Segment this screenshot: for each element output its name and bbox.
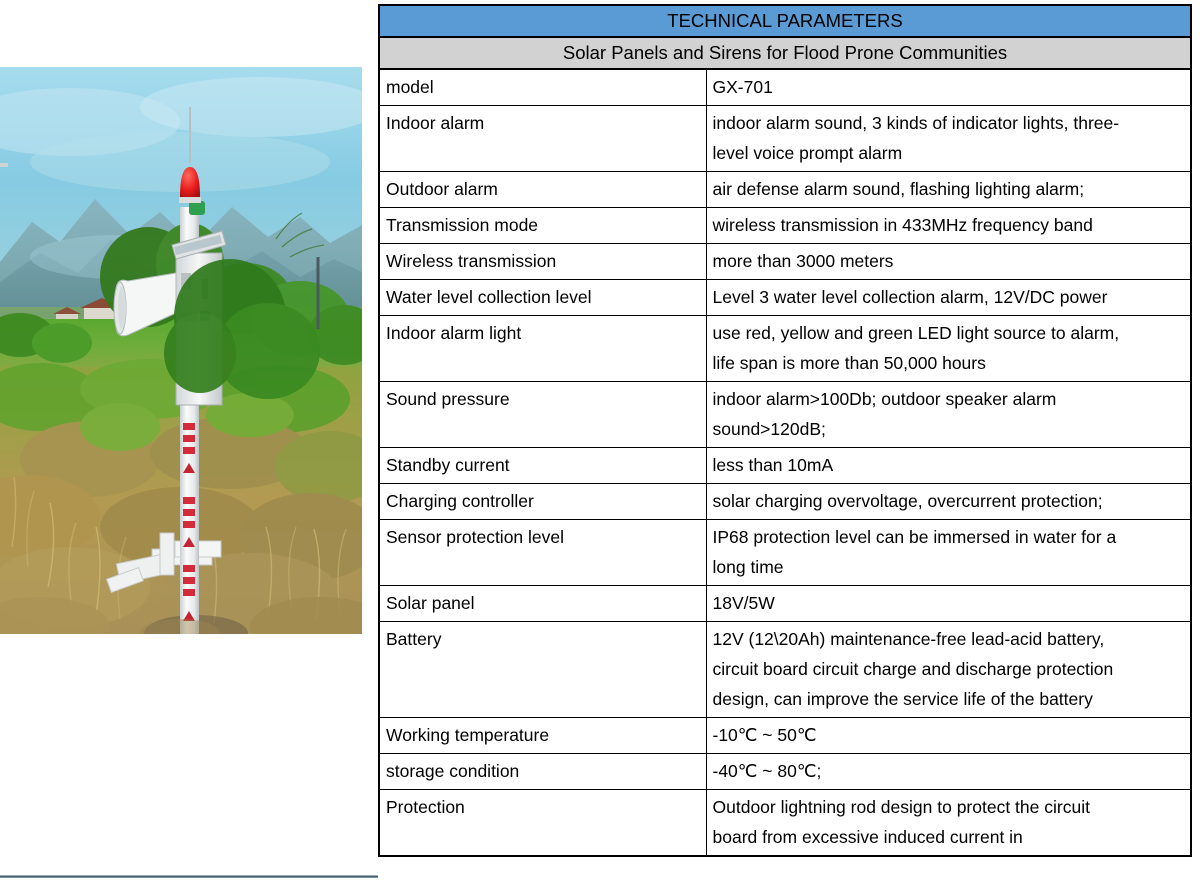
spec-label-cell: Working temperature: [379, 718, 706, 754]
spec-value-cell: indoor alarm>100Db; outdoor speaker alar…: [706, 382, 1191, 448]
table-row: Battery12V (12\20Ah) maintenance-free le…: [379, 622, 1191, 718]
spec-label-cell: Indoor alarm: [379, 106, 706, 172]
spec-value-line: Outdoor lightning rod design to protect …: [713, 792, 1185, 822]
spec-value-cell: IP68 protection level can be immersed in…: [706, 520, 1191, 586]
spec-label-cell: Protection: [379, 790, 706, 857]
table-row: Outdoor alarmair defense alarm sound, fl…: [379, 172, 1191, 208]
spec-label-cell: Sound pressure: [379, 382, 706, 448]
table-body: modelGX-701Indoor alarmindoor alarm soun…: [379, 69, 1191, 856]
spec-value-cell: 12V (12\20Ah) maintenance-free lead-acid…: [706, 622, 1191, 718]
spec-value-line: design, can improve the service life of …: [713, 684, 1185, 714]
table-subtitle-row: Solar Panels and Sirens for Flood Prone …: [379, 37, 1191, 69]
spec-value-line: solar charging overvoltage, overcurrent …: [713, 486, 1185, 516]
table-row: Working temperature -10℃ ~ 50℃: [379, 718, 1191, 754]
table-subtitle: Solar Panels and Sirens for Flood Prone …: [379, 37, 1191, 69]
spec-label-cell: Charging controller: [379, 484, 706, 520]
table-row: Sensor protection levelIP68 protection l…: [379, 520, 1191, 586]
spec-value-line: IP68 protection level can be immersed in…: [713, 522, 1185, 552]
spec-value-line: wireless transmission in 433MHz frequenc…: [713, 210, 1185, 240]
table-row: Water level collection levelLevel 3 wate…: [379, 280, 1191, 316]
spec-label-cell: Battery: [379, 622, 706, 718]
table-row: Solar panel18V/5W: [379, 586, 1191, 622]
spec-value-line: circuit board circuit charge and dischar…: [713, 654, 1185, 684]
spec-value-cell: wireless transmission in 433MHz frequenc…: [706, 208, 1191, 244]
water-level-scale-markings: [183, 423, 195, 621]
technical-parameters-panel: TECHNICAL PARAMETERS Solar Panels and Si…: [378, 4, 1190, 857]
table-row: Standby currentless than 10mA: [379, 448, 1191, 484]
table-row: Indoor alarmindoor alarm sound, 3 kinds …: [379, 106, 1191, 172]
table-row: storage condition-40℃ ~ 80℃;: [379, 754, 1191, 790]
spec-value-cell: -10℃ ~ 50℃: [706, 718, 1191, 754]
spec-label-cell: Indoor alarm light: [379, 316, 706, 382]
table-row: Charging controllersolar charging overvo…: [379, 484, 1191, 520]
spec-value-line: less than 10mA: [713, 450, 1185, 480]
spec-value-line: 12V (12\20Ah) maintenance-free lead-acid…: [713, 624, 1185, 654]
spec-label-cell: Solar panel: [379, 586, 706, 622]
footer-divider: [0, 875, 378, 878]
spec-value-cell: more than 3000 meters: [706, 244, 1191, 280]
spec-value-cell: indoor alarm sound, 3 kinds of indicator…: [706, 106, 1191, 172]
spec-value-line: level voice prompt alarm: [713, 138, 1185, 168]
spec-value-line: use red, yellow and green LED light sour…: [713, 318, 1185, 348]
table-row: Sound pressureindoor alarm>100Db; outdoo…: [379, 382, 1191, 448]
table-title-row: TECHNICAL PARAMETERS: [379, 5, 1191, 37]
spec-value-line: life span is more than 50,000 hours: [713, 348, 1185, 378]
table-title: TECHNICAL PARAMETERS: [379, 5, 1191, 37]
table-row: modelGX-701: [379, 69, 1191, 106]
spec-value-cell: use red, yellow and green LED light sour…: [706, 316, 1191, 382]
spec-value-line: 18V/5W: [713, 588, 1185, 618]
spec-value-line: GX-701: [713, 72, 1185, 102]
spec-value-line: -40℃ ~ 80℃;: [713, 756, 1185, 786]
spec-value-cell: solar charging overvoltage, overcurrent …: [706, 484, 1191, 520]
spec-value-line: board from excessive induced current in: [713, 822, 1185, 852]
spec-value-cell: air defense alarm sound, flashing lighti…: [706, 172, 1191, 208]
spec-label-cell: Wireless transmission: [379, 244, 706, 280]
green-indicator-light: [189, 201, 205, 215]
table-row: ProtectionOutdoor lightning rod design t…: [379, 790, 1191, 857]
spec-label-cell: Water level collection level: [379, 280, 706, 316]
spec-value-line: sound>120dB;: [713, 414, 1185, 444]
spec-label-cell: Transmission mode: [379, 208, 706, 244]
spec-value-line: indoor alarm sound, 3 kinds of indicator…: [713, 108, 1185, 138]
product-photo: [0, 67, 362, 634]
spec-value-line: Level 3 water level collection alarm, 12…: [713, 282, 1185, 312]
spec-label-cell: Outdoor alarm: [379, 172, 706, 208]
spec-value-line: more than 3000 meters: [713, 246, 1185, 276]
table-row: Indoor alarm lightuse red, yellow and gr…: [379, 316, 1191, 382]
spec-value-line: -10℃ ~ 50℃: [713, 720, 1185, 750]
spec-value-cell: Level 3 water level collection alarm, 12…: [706, 280, 1191, 316]
spec-label-cell: Standby current: [379, 448, 706, 484]
spec-value-cell: 18V/5W: [706, 586, 1191, 622]
spec-value-cell: Outdoor lightning rod design to protect …: [706, 790, 1191, 857]
spec-label-cell: storage condition: [379, 754, 706, 790]
table-row: Wireless transmissionmore than 3000 mete…: [379, 244, 1191, 280]
spec-value-cell: less than 10mA: [706, 448, 1191, 484]
table-row: Transmission modewireless transmission i…: [379, 208, 1191, 244]
spec-value-cell: GX-701: [706, 69, 1191, 106]
spec-value-cell: -40℃ ~ 80℃;: [706, 754, 1191, 790]
spec-value-line: air defense alarm sound, flashing lighti…: [713, 174, 1185, 204]
spec-label-cell: model: [379, 69, 706, 106]
spec-value-line: long time: [713, 552, 1185, 582]
spec-label-cell: Sensor protection level: [379, 520, 706, 586]
spec-value-line: indoor alarm>100Db; outdoor speaker alar…: [713, 384, 1185, 414]
product-photo-illustration: [0, 67, 362, 634]
technical-parameters-table: TECHNICAL PARAMETERS Solar Panels and Si…: [378, 4, 1192, 857]
